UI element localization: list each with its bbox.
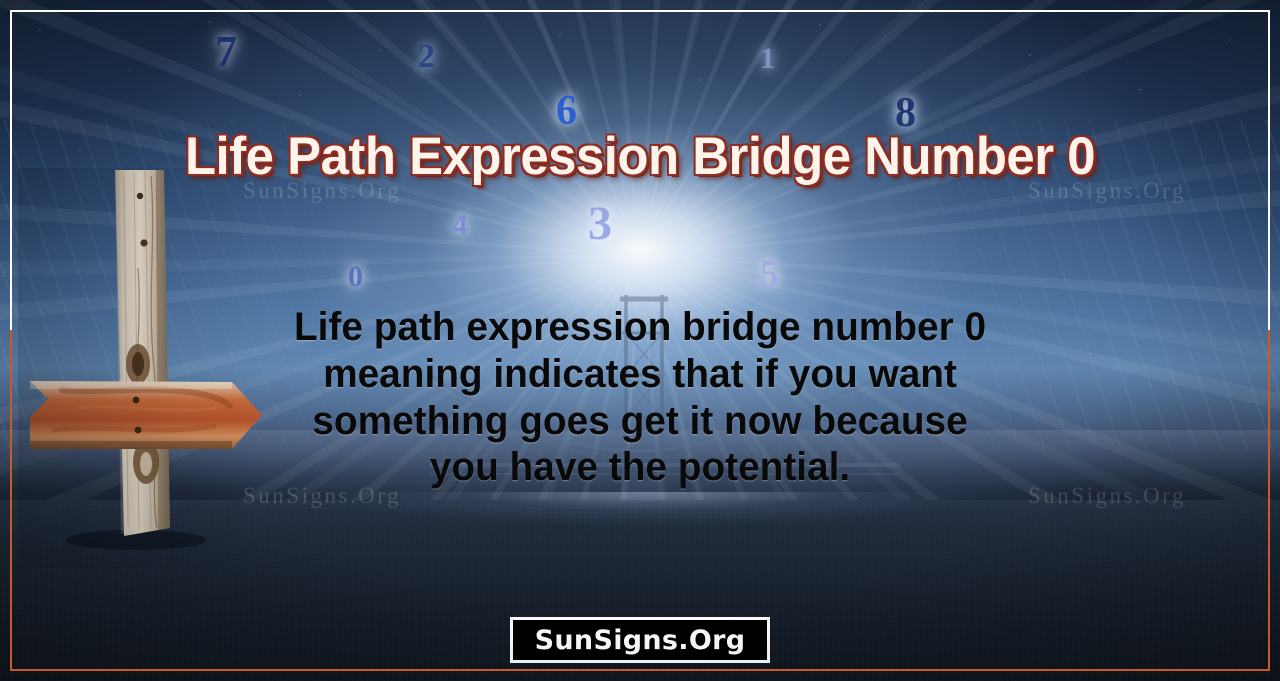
sunsigns-logo-badge[interactable]: SunSigns.Org (510, 617, 770, 663)
body-line-2: meaning indicates that if you want (252, 351, 1028, 398)
page-title: Life Path Expression Bridge Number 0 (26, 126, 1255, 187)
body-line-3: something goes get it now because (252, 398, 1028, 445)
body-text-block: Life path expression bridge number 0 mea… (252, 304, 1028, 491)
logo-text: SunSigns.Org (535, 625, 746, 656)
body-line-1: Life path expression bridge number 0 (252, 304, 1028, 351)
body-line-4: you have the potential. (252, 444, 1028, 491)
wooden-signpost-icon (18, 168, 268, 568)
poster-image: 721864305 SunSigns.OrgSunSigns.OrgSunSig… (0, 0, 1280, 681)
